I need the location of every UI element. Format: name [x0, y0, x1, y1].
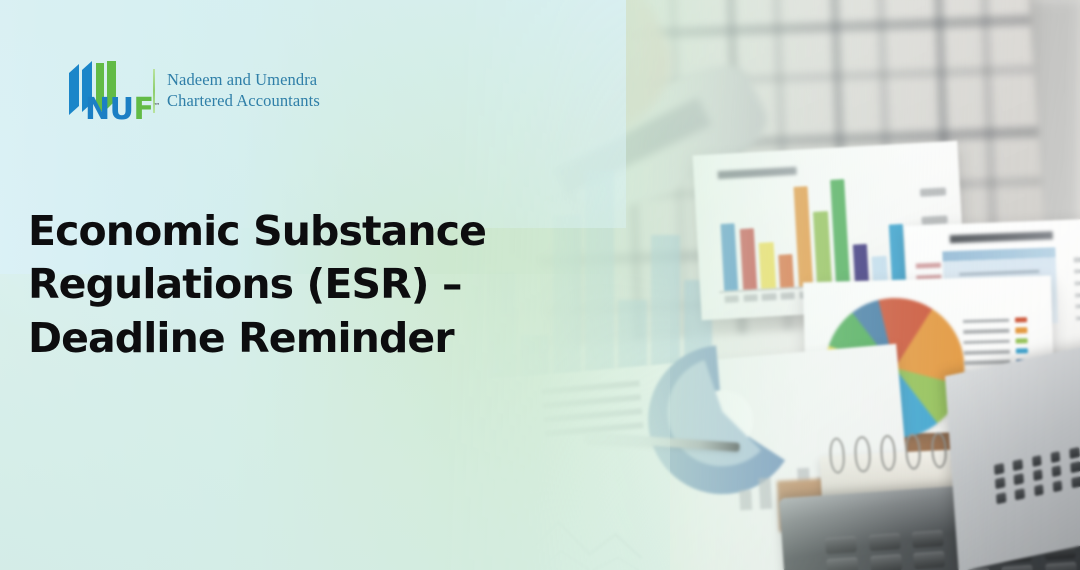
- headline-line-1: Economic Substance: [28, 205, 548, 258]
- nuf-letter-u: U: [110, 92, 134, 127]
- headline-line-3: Deadline Reminder: [28, 312, 548, 365]
- nuf-wordmark: NUF™: [85, 95, 160, 125]
- nuf-letter-n: N: [85, 92, 110, 127]
- brand-tagline-line2: Chartered Accountants: [167, 91, 320, 112]
- headline-line-2: Regulations (ESR) –: [28, 258, 548, 311]
- nuf-logo-mark-icon: NUF™: [63, 60, 137, 122]
- nuf-letter-f: F: [133, 92, 153, 127]
- brand-tagline-line1: Nadeem and Umendra: [167, 70, 320, 91]
- banner-content: NUF™ Nadeem and Umendra Chartered Accoun…: [0, 0, 1080, 570]
- page-title: Economic Substance Regulations (ESR) – D…: [28, 205, 548, 365]
- brand-tagline: Nadeem and Umendra Chartered Accountants: [167, 70, 320, 112]
- brand-logo[interactable]: NUF™ Nadeem and Umendra Chartered Accoun…: [63, 60, 320, 122]
- trademark-symbol: ™: [153, 102, 160, 110]
- esr-deadline-banner: NUF™ Nadeem and Umendra Chartered Accoun…: [0, 0, 1080, 570]
